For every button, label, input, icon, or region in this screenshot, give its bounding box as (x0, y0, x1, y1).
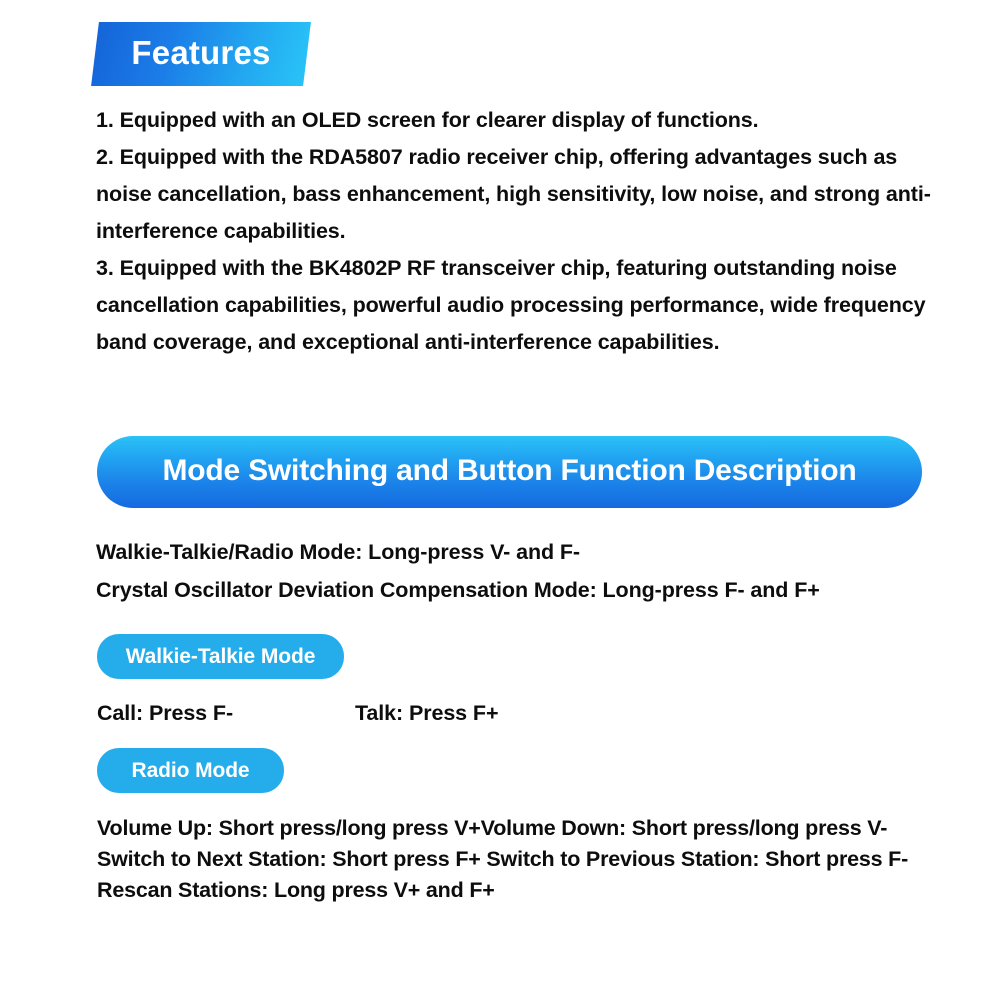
features-heading-label: Features (95, 22, 307, 86)
mode-shortcut-line-1: Walkie-Talkie/Radio Mode: Long-press V- … (96, 533, 956, 571)
feature-item-3: 3. Equipped with the BK4802P RF transcei… (96, 250, 952, 361)
feature-item-1: 1. Equipped with an OLED screen for clea… (96, 102, 952, 139)
radio-mode-label: Radio Mode (132, 759, 250, 783)
radio-mode-instructions: Volume Up: Short press/long press V+Volu… (97, 813, 957, 906)
feature-item-2: 2. Equipped with the RDA5807 radio recei… (96, 139, 952, 250)
walkie-talkie-mode-label: Walkie-Talkie Mode (126, 645, 316, 669)
mode-switching-banner-label: Mode Switching and Button Function Descr… (162, 454, 856, 490)
radio-instruction-1: Volume Up: Short press/long press V+Volu… (97, 813, 957, 844)
radio-instruction-3: Rescan Stations: Long press V+ and F+ (97, 875, 957, 906)
mode-shortcut-line-2: Crystal Oscillator Deviation Compensatio… (96, 571, 956, 609)
walkie-talkie-actions: Call: Press F-Talk: Press F+ (97, 701, 857, 726)
walkie-talkie-mode-pill: Walkie-Talkie Mode (97, 634, 344, 679)
mode-shortcut-lines: Walkie-Talkie/Radio Mode: Long-press V- … (96, 533, 956, 609)
features-heading-banner: Features (95, 22, 307, 86)
radio-mode-pill: Radio Mode (97, 748, 284, 793)
features-list: 1. Equipped with an OLED screen for clea… (96, 102, 952, 361)
radio-instruction-2: Switch to Next Station: Short press F+ S… (97, 844, 957, 875)
walkie-call-action: Call: Press F- (97, 701, 355, 726)
mode-switching-banner: Mode Switching and Button Function Descr… (97, 436, 922, 508)
product-description-page: Features 1. Equipped with an OLED screen… (0, 0, 1000, 1000)
walkie-talk-action: Talk: Press F+ (355, 701, 498, 726)
